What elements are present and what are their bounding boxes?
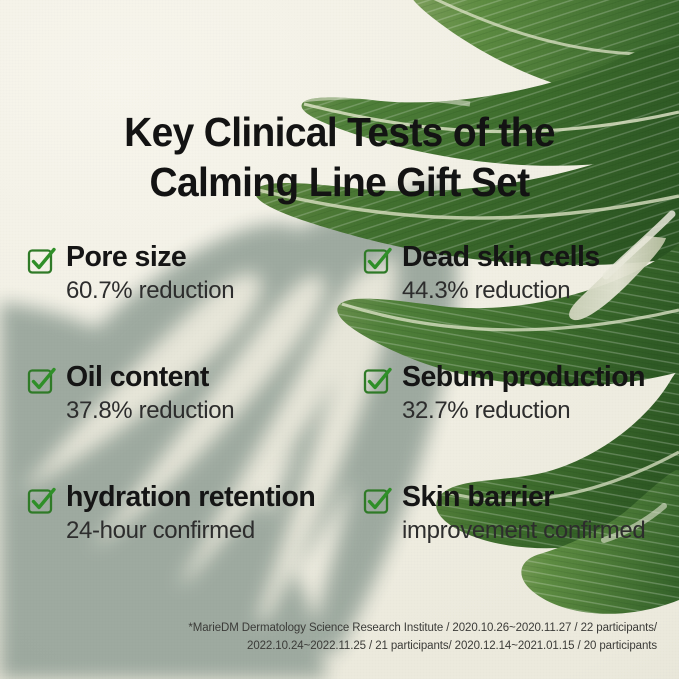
footnote: *MarieDM Dermatology Science Research In… <box>188 619 657 656</box>
checkbox-checked-icon <box>363 487 391 515</box>
result-title: Sebum production <box>402 361 645 393</box>
results-row: Oil content 37.8% reduction Sebum produc… <box>27 363 667 483</box>
footnote-line-1: *MarieDM Dermatology Science Research In… <box>188 619 657 638</box>
checkbox-checked-icon <box>27 367 55 395</box>
result-subtitle: improvement confirmed <box>402 517 645 544</box>
result-subtitle: 37.8% reduction <box>66 397 234 424</box>
result-item-pore-size: Pore size 60.7% reduction <box>27 243 363 363</box>
result-item-sebum-production: Sebum production 32.7% reduction <box>363 363 667 483</box>
result-subtitle: 44.3% reduction <box>402 277 600 304</box>
result-title: Oil content <box>66 361 209 393</box>
checkbox-checked-icon <box>363 247 391 275</box>
result-title: Skin barrier <box>402 481 554 513</box>
clinical-test-poster: Key Clinical Tests of the Calming Line G… <box>0 0 679 679</box>
result-item-oil-content: Oil content 37.8% reduction <box>27 363 363 483</box>
result-title: hydration retention <box>66 481 315 513</box>
result-item-hydration-retention: hydration retention 24-hour confirmed <box>27 483 363 593</box>
result-item-dead-skin-cells: Dead skin cells 44.3% reduction <box>363 243 667 363</box>
result-subtitle: 24-hour confirmed <box>66 517 315 544</box>
footnote-line-2: 2022.10.24~2022.11.25 / 21 participants/… <box>188 637 657 656</box>
checkbox-checked-icon <box>363 367 391 395</box>
result-item-skin-barrier: Skin barrier improvement confirmed <box>363 483 667 593</box>
results-row: hydration retention 24-hour confirmed Sk… <box>27 483 667 593</box>
result-subtitle: 60.7% reduction <box>66 277 234 304</box>
result-subtitle: 32.7% reduction <box>402 397 645 424</box>
result-title: Dead skin cells <box>402 241 600 273</box>
results-row: Pore size 60.7% reduction Dead skin cell… <box>27 243 667 363</box>
clinical-results-grid: Pore size 60.7% reduction Dead skin cell… <box>27 243 667 593</box>
result-title: Pore size <box>66 241 186 273</box>
page-title: Key Clinical Tests of the Calming Line G… <box>17 107 662 207</box>
checkbox-checked-icon <box>27 247 55 275</box>
checkbox-checked-icon <box>27 487 55 515</box>
